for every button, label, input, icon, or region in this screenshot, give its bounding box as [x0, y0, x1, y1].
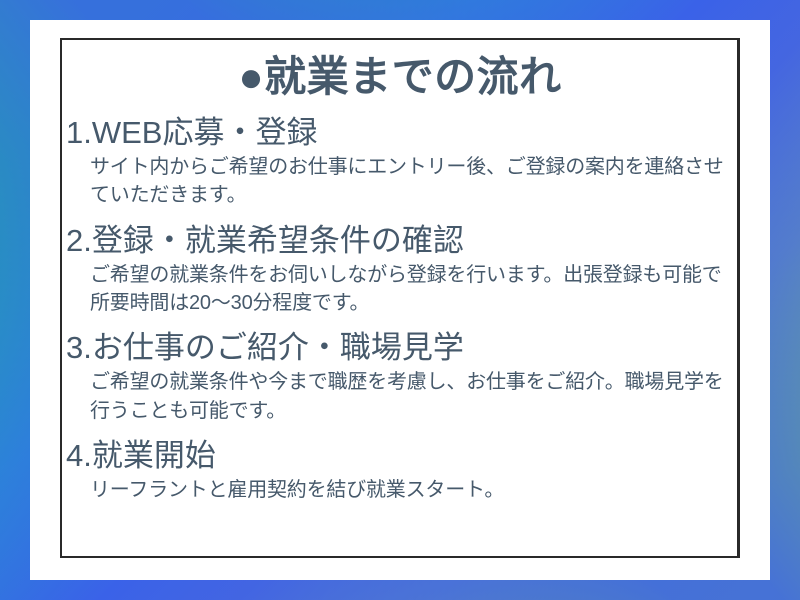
step-3-body: ご希望の就業条件や今まで職歴を考慮し、お仕事をご紹介。職場見学を行うことも可能で…	[90, 368, 734, 425]
list-item: 4.就業開始 リーフラントと雇用契約を結び就業スタート。	[66, 437, 734, 504]
list-item: 3.お仕事のご紹介・職場見学 ご希望の就業条件や今まで職歴を考慮し、お仕事をご紹…	[66, 329, 734, 425]
step-1-body: サイト内からご希望のお仕事にエントリー後、ご登録の案内を連絡させていただきます。	[90, 153, 734, 210]
step-4-body: リーフラントと雇用契約を結び就業スタート。	[90, 476, 734, 504]
page-title: ●就業までの流れ	[66, 46, 734, 100]
step-2-body: ご希望の就業条件をお伺いしながら登録を行います。出張登録も可能で所要時間は20〜…	[90, 261, 734, 318]
poster-content: ●就業までの流れ 1.WEB応募・登録 サイト内からご希望のお仕事にエントリー後…	[60, 38, 740, 558]
step-4-heading: 4.就業開始	[66, 437, 734, 475]
step-2-heading: 2.登録・就業希望条件の確認	[66, 222, 734, 260]
list-item: 1.WEB応募・登録 サイト内からご希望のお仕事にエントリー後、ご登録の案内を連…	[66, 114, 734, 210]
step-3-heading: 3.お仕事のご紹介・職場見学	[66, 329, 734, 367]
steps-list: 1.WEB応募・登録 サイト内からご希望のお仕事にエントリー後、ご登録の案内を連…	[66, 114, 734, 504]
list-item: 2.登録・就業希望条件の確認 ご希望の就業条件をお伺いしながら登録を行います。出…	[66, 222, 734, 318]
step-1-heading: 1.WEB応募・登録	[66, 114, 734, 152]
poster-background: ●就業までの流れ 1.WEB応募・登録 サイト内からご希望のお仕事にエントリー後…	[0, 0, 800, 600]
